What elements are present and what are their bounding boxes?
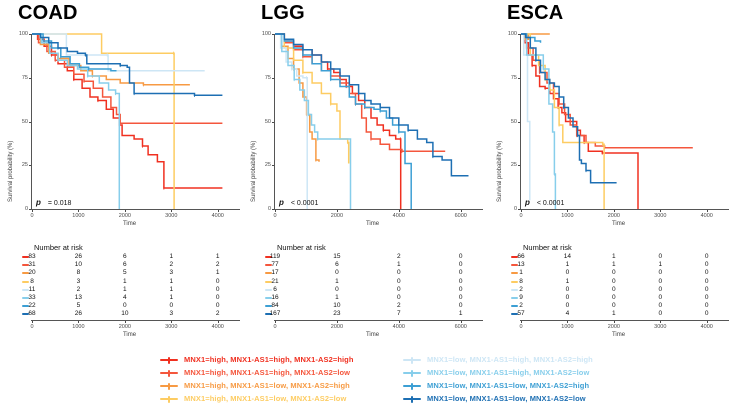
risk-cell: 1	[320, 278, 354, 285]
p-value-text: < 0.0001	[537, 200, 564, 207]
risk-table-row: 1191520	[243, 253, 491, 261]
risk-x-tick-mark	[461, 321, 462, 323]
risk-cell: 119	[258, 253, 292, 260]
risk-cell: 0	[550, 294, 584, 301]
figure-legend: MNX1=high, MNX1-AS1=high, MNX1-AS2=highM…	[0, 352, 743, 415]
risk-cell: 0	[444, 286, 478, 293]
risk-table: 6614100131110100008100020000900002000057…	[489, 253, 737, 319]
risk-cell: 83	[15, 253, 49, 260]
risk-cell: 14	[550, 253, 584, 260]
risk-cell: 66	[504, 253, 538, 260]
risk-table: 8326611311062220853183110112110331341022…	[0, 253, 248, 319]
risk-cell: 0	[444, 269, 478, 276]
risk-cell: 0	[690, 302, 724, 309]
risk-cell: 0	[108, 302, 142, 309]
legend-color-marker	[403, 371, 421, 375]
p-symbol: p	[525, 198, 530, 207]
risk-cell: 57	[504, 310, 538, 317]
risk-cell: 31	[15, 261, 49, 268]
risk-cell: 167	[258, 310, 292, 317]
risk-table-row: 112110	[0, 286, 248, 294]
risk-cell: 0	[643, 302, 677, 309]
risk-cell: 1	[444, 310, 478, 317]
plot-area: Survival probability (%)0255075100010002…	[489, 26, 737, 226]
legend-label: MNX1=low, MNX1-AS1=low, MNX1-AS2=high	[427, 381, 589, 390]
km-curves	[489, 26, 737, 215]
risk-cell: 1	[154, 278, 188, 285]
risk-cell: 1	[108, 286, 142, 293]
risk-cell: 0	[643, 253, 677, 260]
risk-cell: 10	[108, 310, 142, 317]
risk-cell: 0	[444, 261, 478, 268]
risk-cell: 0	[550, 269, 584, 276]
panel-title: COAD	[18, 2, 78, 25]
legend-label: MNX1=high, MNX1-AS1=high, MNX1-AS2=high	[184, 355, 354, 364]
legend-label: MNX1=low, MNX1-AS1=high, MNX1-AS2=low	[427, 368, 589, 377]
risk-table-row: 841020	[243, 302, 491, 310]
risk-cell: 22	[15, 302, 49, 309]
risk-cell: 3	[154, 269, 188, 276]
risk-table-row: 1672371	[243, 310, 491, 318]
risk-cell: 5	[61, 302, 95, 309]
risk-table-row: 81000	[489, 278, 737, 286]
risk-table-row: 68261032	[0, 310, 248, 318]
risk-cell: 0	[690, 310, 724, 317]
km-curve	[32, 34, 119, 209]
x-axis-label: Time	[521, 221, 716, 227]
risk-cell: 1	[108, 278, 142, 285]
risk-cell: 1	[201, 253, 235, 260]
plot-area: Survival probability (%)0255075100020004…	[243, 26, 491, 226]
risk-table: 1191520776101700021100600016100841020167…	[243, 253, 491, 319]
legend-label: MNX1=high, MNX1-AS1=high, MNX1-AS2=low	[184, 368, 350, 377]
risk-table-row: 90000	[489, 294, 737, 302]
risk-cell: 1	[550, 261, 584, 268]
legend-color-marker	[160, 397, 178, 401]
risk-cell: 0	[201, 278, 235, 285]
risk-cell: 0	[643, 278, 677, 285]
risk-table-row: 83110	[0, 278, 248, 286]
risk-cell: 2	[61, 286, 95, 293]
risk-cell: 16	[258, 294, 292, 301]
risk-cell: 2	[201, 310, 235, 317]
risk-table-row: 574100	[489, 310, 737, 318]
panel-title: LGG	[261, 2, 305, 25]
risk-axis-line	[520, 320, 729, 321]
risk-axis-line	[274, 320, 483, 321]
risk-cell: 0	[382, 269, 416, 276]
legend-color-marker	[403, 358, 421, 362]
risk-table-row: 3110622	[0, 261, 248, 269]
risk-cell: 0	[597, 269, 631, 276]
km-curve	[32, 34, 222, 95]
risk-table-row: 225000	[0, 302, 248, 310]
risk-cell: 13	[504, 261, 538, 268]
legend-label: MNX1=high, MNX1-AS1=low, MNX1-AS2=high	[184, 381, 350, 390]
risk-cell: 0	[550, 286, 584, 293]
risk-table-row: 21100	[243, 278, 491, 286]
risk-cell: 26	[61, 253, 95, 260]
risk-cell: 23	[320, 310, 354, 317]
risk-table-row: 208531	[0, 269, 248, 277]
risk-x-tick-label: 1000	[63, 324, 93, 330]
risk-table-row: 10000	[489, 269, 737, 277]
risk-cell: 5	[108, 269, 142, 276]
risk-cell: 1	[201, 269, 235, 276]
p-symbol: p	[36, 198, 41, 207]
risk-x-tick-mark	[521, 321, 522, 323]
risk-cell: 4	[108, 294, 142, 301]
risk-table-row: 77610	[243, 261, 491, 269]
risk-x-tick-mark	[399, 321, 400, 323]
risk-x-tick-label: 3000	[156, 324, 186, 330]
risk-table-title: Number at risk	[523, 243, 572, 252]
risk-cell: 2	[504, 286, 538, 293]
risk-cell: 0	[320, 269, 354, 276]
risk-cell: 2	[154, 261, 188, 268]
risk-cell: 0	[643, 286, 677, 293]
risk-cell: 3	[154, 310, 188, 317]
risk-cell: 0	[690, 261, 724, 268]
risk-table-title: Number at risk	[34, 243, 83, 252]
risk-cell: 0	[382, 278, 416, 285]
risk-x-tick-mark	[218, 321, 219, 323]
risk-x-tick-mark	[707, 321, 708, 323]
risk-axis-line	[31, 320, 240, 321]
risk-cell: 7	[382, 310, 416, 317]
risk-table-row: 8326611	[0, 253, 248, 261]
risk-cell: 1	[597, 310, 631, 317]
risk-cell: 0	[201, 294, 235, 301]
risk-x-tick-mark	[78, 321, 79, 323]
risk-x-tick-label: 4000	[692, 324, 722, 330]
risk-cell: 26	[61, 310, 95, 317]
risk-x-tick-mark	[32, 321, 33, 323]
risk-cell: 6	[108, 253, 142, 260]
risk-x-tick-label: 3000	[645, 324, 675, 330]
km-curve	[521, 34, 693, 148]
risk-cell: 4	[550, 310, 584, 317]
p-value-text: = 0.018	[48, 200, 72, 207]
risk-table-row: 17000	[243, 269, 491, 277]
p-symbol: p	[279, 198, 284, 207]
risk-cell: 6	[258, 286, 292, 293]
risk-cell: 0	[201, 286, 235, 293]
risk-x-axis-label: Time	[275, 332, 470, 338]
x-axis-label: Time	[32, 221, 227, 227]
risk-cell: 0	[690, 278, 724, 285]
risk-cell: 0	[444, 294, 478, 301]
risk-cell: 68	[15, 310, 49, 317]
risk-cell: 6	[320, 261, 354, 268]
risk-table-row: 16100	[243, 294, 491, 302]
km-curve	[32, 34, 205, 71]
risk-x-tick-label: 2000	[110, 324, 140, 330]
risk-cell: 0	[643, 294, 677, 301]
risk-cell: 2	[201, 261, 235, 268]
risk-cell: 0	[382, 286, 416, 293]
risk-x-tick-label: 1000	[552, 324, 582, 330]
risk-x-tick-label: 0	[506, 324, 536, 330]
risk-x-tick-mark	[171, 321, 172, 323]
risk-cell: 0	[444, 278, 478, 285]
km-curve	[521, 34, 617, 183]
risk-cell: 0	[320, 286, 354, 293]
legend-color-marker	[160, 358, 178, 362]
risk-cell: 0	[201, 302, 235, 309]
km-curves	[0, 26, 248, 215]
risk-cell: 0	[690, 269, 724, 276]
risk-cell: 0	[550, 302, 584, 309]
risk-cell: 21	[258, 278, 292, 285]
risk-cell: 33	[15, 294, 49, 301]
risk-cell: 1	[504, 269, 538, 276]
risk-table-row: 3313410	[0, 294, 248, 302]
risk-x-tick-mark	[125, 321, 126, 323]
risk-cell: 17	[258, 269, 292, 276]
risk-cell: 8	[15, 278, 49, 285]
risk-cell: 11	[15, 286, 49, 293]
risk-cell: 84	[258, 302, 292, 309]
risk-cell: 10	[61, 261, 95, 268]
km-curve	[521, 34, 530, 200]
risk-cell: 8	[61, 269, 95, 276]
risk-cell: 0	[154, 302, 188, 309]
risk-x-tick-label: 6000	[446, 324, 476, 330]
risk-cell: 77	[258, 261, 292, 268]
risk-cell: 0	[597, 286, 631, 293]
risk-cell: 0	[597, 278, 631, 285]
legend-label: MNX1=high, MNX1-AS1=low, MNX1-AS2=low	[184, 394, 346, 403]
risk-x-tick-label: 4000	[203, 324, 233, 330]
risk-cell: 0	[444, 253, 478, 260]
km-curve	[275, 34, 445, 151]
risk-cell: 2	[382, 302, 416, 309]
legend-color-marker	[403, 384, 421, 388]
plot-area: Survival probability (%)0255075100010002…	[0, 26, 248, 226]
risk-x-tick-label: 0	[260, 324, 290, 330]
risk-table-row: 20000	[489, 286, 737, 294]
panel-title: ESCA	[507, 2, 563, 25]
risk-x-tick-mark	[275, 321, 276, 323]
risk-cell: 2	[504, 302, 538, 309]
risk-cell: 0	[597, 294, 631, 301]
risk-x-tick-mark	[337, 321, 338, 323]
risk-cell: 6	[108, 261, 142, 268]
risk-cell: 0	[690, 253, 724, 260]
risk-cell: 13	[61, 294, 95, 301]
risk-cell: 8	[504, 278, 538, 285]
risk-cell: 1	[550, 278, 584, 285]
risk-cell: 10	[320, 302, 354, 309]
panel-coad: COADSurvival probability (%)025507510001…	[0, 0, 248, 350]
risk-cell: 15	[320, 253, 354, 260]
x-axis-label: Time	[275, 221, 470, 227]
km-curves	[243, 26, 491, 215]
risk-cell: 0	[382, 294, 416, 301]
risk-cell: 0	[597, 302, 631, 309]
p-value-annotation: p = 0.018	[36, 198, 71, 207]
km-curve	[32, 34, 174, 209]
p-value-text: < 0.0001	[291, 200, 318, 207]
risk-cell: 9	[504, 294, 538, 301]
risk-cell: 1	[597, 261, 631, 268]
risk-table-row: 6614100	[489, 253, 737, 261]
panel-esca: ESCASurvival probability (%)025507510001…	[489, 0, 737, 350]
risk-x-tick-label: 4000	[384, 324, 414, 330]
risk-cell: 1	[154, 253, 188, 260]
risk-x-axis-label: Time	[521, 332, 716, 338]
risk-cell: 0	[643, 269, 677, 276]
risk-cell: 1	[154, 286, 188, 293]
risk-cell: 0	[444, 302, 478, 309]
risk-cell: 1	[154, 294, 188, 301]
risk-x-tick-mark	[567, 321, 568, 323]
p-value-annotation: p < 0.0001	[525, 198, 564, 207]
p-value-annotation: p < 0.0001	[279, 198, 318, 207]
risk-x-tick-label: 2000	[322, 324, 352, 330]
panel-lgg: LGGSurvival probability (%)0255075100020…	[243, 0, 491, 350]
risk-table-row: 6000	[243, 286, 491, 294]
risk-table-row: 131110	[489, 261, 737, 269]
risk-cell: 0	[643, 310, 677, 317]
risk-cell: 2	[382, 253, 416, 260]
risk-cell: 1	[320, 294, 354, 301]
risk-cell: 1	[382, 261, 416, 268]
risk-cell: 20	[15, 269, 49, 276]
legend-color-marker	[160, 371, 178, 375]
risk-cell: 0	[690, 294, 724, 301]
risk-x-tick-label: 0	[17, 324, 47, 330]
risk-cell: 1	[643, 261, 677, 268]
risk-table-title: Number at risk	[277, 243, 326, 252]
legend-color-marker	[403, 397, 421, 401]
legend-label: MNX1=low, MNX1-AS1=low, MNX1-AS2=low	[427, 394, 586, 403]
risk-table-row: 20000	[489, 302, 737, 310]
risk-x-tick-label: 2000	[599, 324, 629, 330]
risk-x-axis-label: Time	[32, 332, 227, 338]
risk-cell: 3	[61, 278, 95, 285]
survival-figure: COADSurvival probability (%)025507510001…	[0, 0, 743, 415]
risk-cell: 0	[690, 286, 724, 293]
risk-x-tick-mark	[660, 321, 661, 323]
legend-color-marker	[160, 384, 178, 388]
risk-cell: 1	[597, 253, 631, 260]
risk-x-tick-mark	[614, 321, 615, 323]
legend-label: MNX1=low, MNX1-AS1=high, MNX1-AS2=high	[427, 355, 593, 364]
